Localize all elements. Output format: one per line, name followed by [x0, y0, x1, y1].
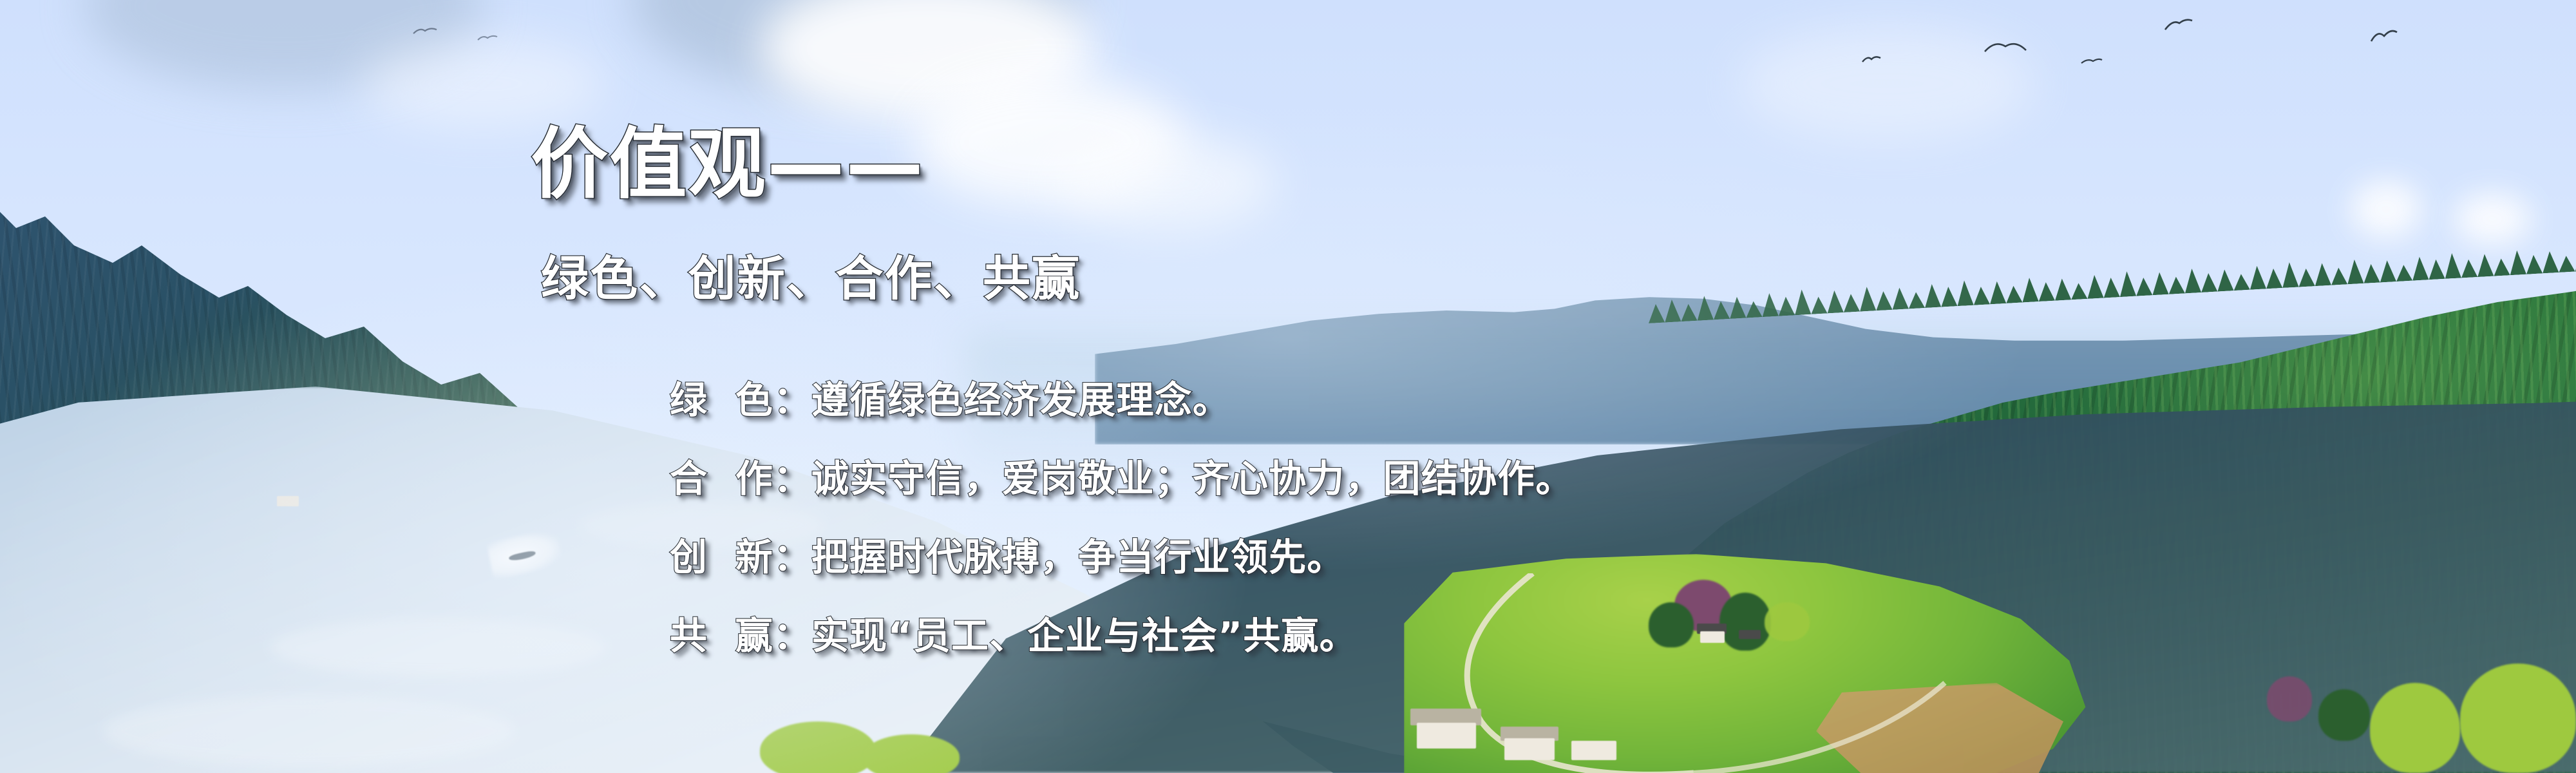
values-subtitle: 绿色、创新、合作、共赢 [541, 255, 1081, 303]
page-title: 价值观—— [531, 126, 925, 204]
values-list-item: 创 新：把握时代脉搏，争当行业领先。 [670, 539, 1573, 576]
text-overlay: 价值观—— 绿色、创新、合作、共赢 绿 色：遵循绿色经济发展理念。 合 作：诚实… [0, 0, 2576, 773]
values-list-item: 合 作：诚实守信，爱岗敬业；齐心协力，团结协作。 [670, 460, 1573, 497]
values-list-item: 绿 色：遵循绿色经济发展理念。 [670, 381, 1573, 419]
banner-image: 价值观—— 绿色、创新、合作、共赢 绿 色：遵循绿色经济发展理念。 合 作：诚实… [0, 0, 2576, 773]
values-list: 绿 色：遵循绿色经济发展理念。 合 作：诚实守信，爱岗敬业；齐心协力，团结协作。… [670, 381, 1573, 654]
values-list-item: 共 赢：实现“员工、企业与社会”共赢。 [670, 617, 1573, 654]
